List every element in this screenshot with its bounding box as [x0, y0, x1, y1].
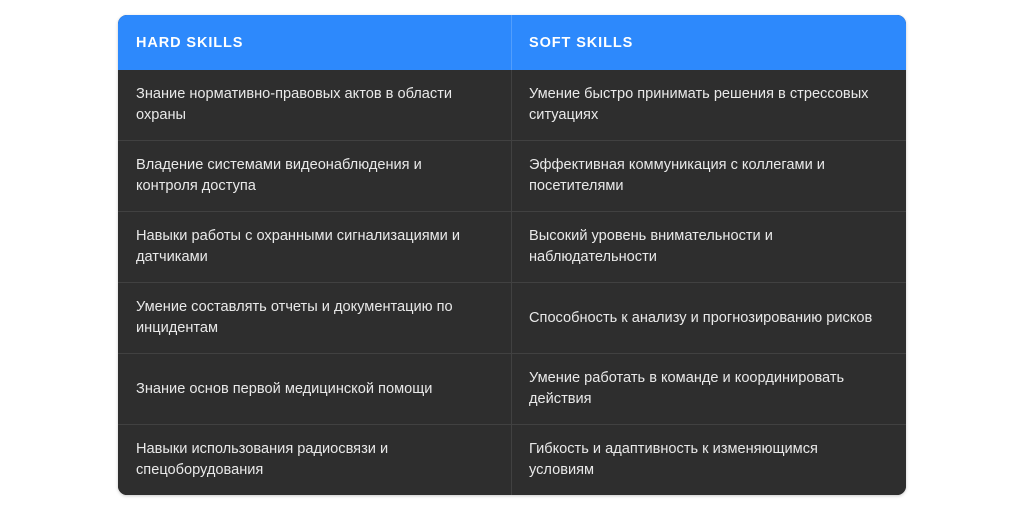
cell-hard-skill: Навыки использования радиосвязи и спецоб…: [118, 425, 511, 495]
cell-soft-skill-text: Высокий уровень внимательности и наблюда…: [529, 226, 880, 268]
cell-soft-skill-text: Умение работать в команде и координирова…: [529, 368, 880, 410]
table-row: Знание основ первой медицинской помощи У…: [118, 353, 906, 424]
table-row: Владение системами видеонаблюдения и кон…: [118, 140, 906, 211]
column-header-soft-skills: SOFT SKILLS: [511, 15, 906, 70]
cell-soft-skill: Способность к анализу и прогнозированию …: [511, 283, 906, 353]
table-header-row: HARD SKILLS SOFT SKILLS: [118, 15, 906, 70]
table-body: Знание нормативно-правовых актов в облас…: [118, 70, 906, 495]
cell-hard-skill-text: Умение составлять отчеты и документацию …: [136, 297, 485, 339]
cell-soft-skill-text: Умение быстро принимать решения в стресс…: [529, 84, 880, 126]
cell-hard-skill-text: Владение системами видеонаблюдения и кон…: [136, 155, 485, 197]
cell-hard-skill: Навыки работы с охранными сигнализациями…: [118, 212, 511, 282]
table-row: Умение составлять отчеты и документацию …: [118, 282, 906, 353]
cell-soft-skill: Эффективная коммуникация с коллегами и п…: [511, 141, 906, 211]
cell-soft-skill-text: Гибкость и адаптивность к изменяющимся у…: [529, 439, 880, 481]
cell-hard-skill: Умение составлять отчеты и документацию …: [118, 283, 511, 353]
cell-hard-skill-text: Знание основ первой медицинской помощи: [136, 379, 432, 400]
table-row: Навыки работы с охранными сигнализациями…: [118, 211, 906, 282]
cell-soft-skill: Умение работать в команде и координирова…: [511, 354, 906, 424]
cell-hard-skill: Владение системами видеонаблюдения и кон…: [118, 141, 511, 211]
table-row: Навыки использования радиосвязи и спецоб…: [118, 424, 906, 495]
cell-hard-skill-text: Знание нормативно-правовых актов в облас…: [136, 84, 485, 126]
page-root: HARD SKILLS SOFT SKILLS Знание нормативн…: [0, 0, 1024, 507]
cell-soft-skill-text: Способность к анализу и прогнозированию …: [529, 308, 872, 329]
column-header-hard-skills: HARD SKILLS: [118, 15, 511, 70]
cell-soft-skill: Умение быстро принимать решения в стресс…: [511, 70, 906, 140]
cell-soft-skill: Гибкость и адаптивность к изменяющимся у…: [511, 425, 906, 495]
cell-soft-skill: Высокий уровень внимательности и наблюда…: [511, 212, 906, 282]
table-row: Знание нормативно-правовых актов в облас…: [118, 70, 906, 140]
column-header-hard-skills-label: HARD SKILLS: [136, 35, 243, 51]
cell-hard-skill-text: Навыки работы с охранными сигнализациями…: [136, 226, 485, 268]
cell-soft-skill-text: Эффективная коммуникация с коллегами и п…: [529, 155, 880, 197]
cell-hard-skill: Знание основ первой медицинской помощи: [118, 354, 511, 424]
skills-comparison-table: HARD SKILLS SOFT SKILLS Знание нормативн…: [118, 15, 906, 495]
cell-hard-skill-text: Навыки использования радиосвязи и спецоб…: [136, 439, 485, 481]
column-header-soft-skills-label: SOFT SKILLS: [529, 35, 633, 51]
cell-hard-skill: Знание нормативно-правовых актов в облас…: [118, 70, 511, 140]
